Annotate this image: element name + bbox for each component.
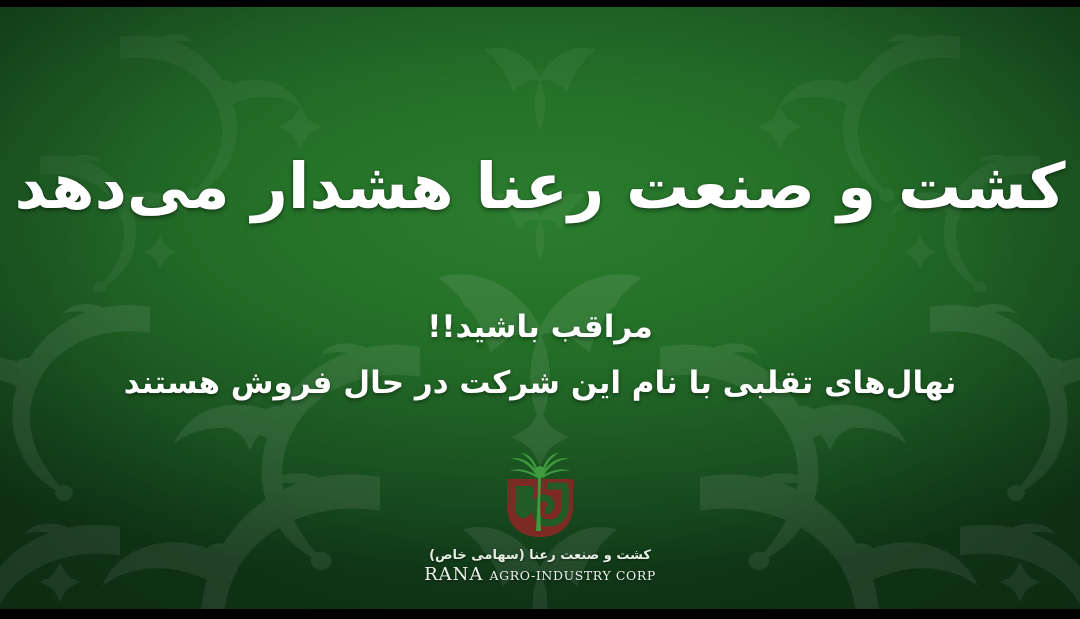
- headline-text: کشت و صنعت رعنا هشدار می‌دهد: [0, 150, 1080, 224]
- logo-persian-name: کشت و صنعت رعنا (سهامی خاص): [0, 548, 1080, 563]
- slide-stage: کشت و صنعت رعنا هشدار می‌دهد مراقب باشید…: [0, 7, 1080, 609]
- company-logo-lockup: کشت و صنعت رعنا (سهامی خاص) RANA AGRO-IN…: [0, 453, 1080, 585]
- logo-english-name: RANA AGRO-INDUSTRY CORP: [0, 564, 1080, 585]
- letterbox-bar-top: [0, 0, 1080, 7]
- video-slide-frame: کشت و صنعت رعنا هشدار می‌دهد مراقب باشید…: [0, 0, 1080, 619]
- rana-palm-shield-emblem-icon: [497, 453, 583, 545]
- letterbox-bar-bottom: [0, 609, 1080, 619]
- logo-english-primary: RANA: [424, 564, 483, 585]
- logo-english-secondary: AGRO-INDUSTRY CORP: [490, 568, 656, 583]
- warning-detail-text: نهال‌های تقلبی با نام این شرکت در حال فر…: [0, 365, 1080, 401]
- warning-subheadline-text: مراقب باشید!!: [0, 309, 1080, 345]
